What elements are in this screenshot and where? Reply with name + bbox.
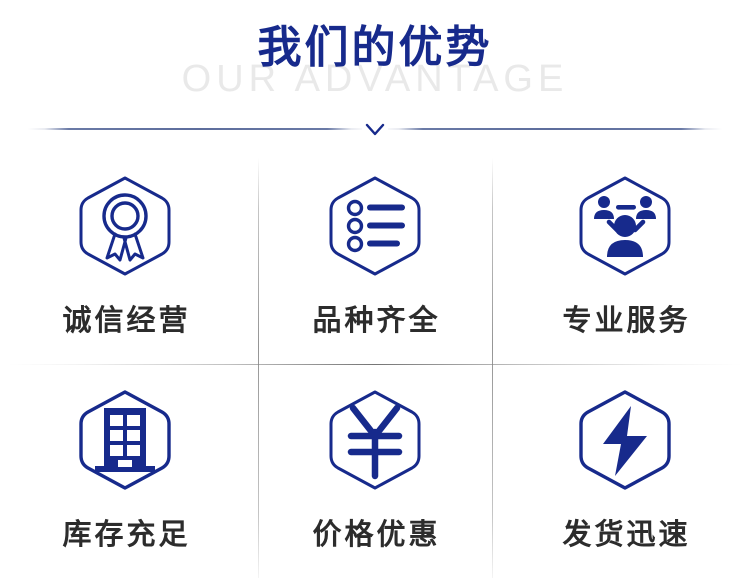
section-header: OUR ADVANTAGE 我们的优势	[0, 0, 750, 150]
advantage-item-price[interactable]: 价格优惠	[250, 364, 500, 578]
lightning-bolt-icon	[567, 382, 683, 498]
yen-currency-icon	[317, 382, 433, 498]
advantage-item-shipping[interactable]: 发货迅速	[500, 364, 750, 578]
advantage-grid: 诚信经营 品种齐全	[0, 150, 750, 578]
bulleted-list-icon	[317, 168, 433, 284]
advantage-label: 价格优惠	[309, 516, 440, 554]
advantage-item-stock[interactable]: 库存充足	[0, 364, 250, 578]
chevron-down-icon	[362, 118, 388, 142]
advantage-label: 发货迅速	[559, 516, 690, 554]
advantage-label: 诚信经营	[59, 302, 190, 340]
page-title: 我们的优势	[0, 20, 750, 76]
advantage-label: 品种齐全	[309, 302, 440, 340]
title-divider	[0, 118, 750, 142]
advantage-section: OUR ADVANTAGE 我们的优势	[0, 0, 750, 578]
advantage-item-service[interactable]: 专业服务	[500, 150, 750, 364]
advantage-item-variety[interactable]: 品种齐全	[250, 150, 500, 364]
divider-line-left	[28, 128, 368, 130]
advantage-item-integrity[interactable]: 诚信经营	[0, 150, 250, 364]
advantage-label: 库存充足	[59, 516, 190, 554]
team-people-icon	[567, 168, 683, 284]
divider-line-right	[382, 128, 722, 130]
advantage-label: 专业服务	[559, 302, 690, 340]
medal-award-icon	[67, 168, 183, 284]
warehouse-building-icon	[67, 382, 183, 498]
title-stack: OUR ADVANTAGE 我们的优势	[0, 0, 750, 105]
